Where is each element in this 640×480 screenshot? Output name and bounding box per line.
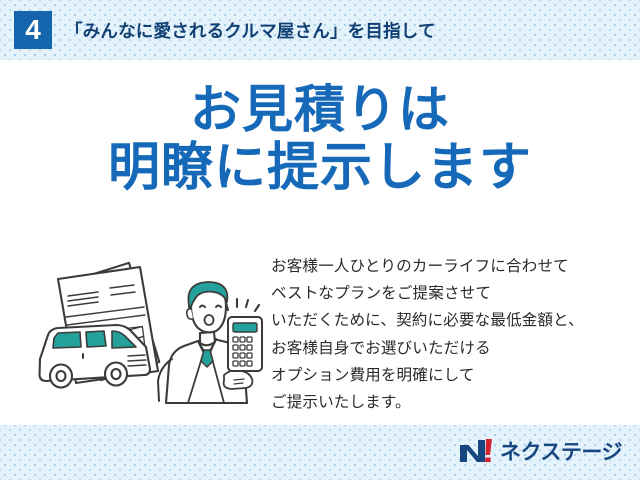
headline-line-2: 明瞭に提示します: [0, 139, 640, 197]
advertisement-canvas: 4 「みんなに愛されるクルマ屋さん」を目指して お見積りは 明瞭に提示します お…: [0, 0, 640, 480]
brand-logo: ネクステージ: [459, 436, 622, 466]
body-line: オプション費用を明確にして: [271, 362, 631, 389]
van-icon: [40, 325, 151, 388]
header-title: 「みんなに愛されるクルマ屋さん」を目指して: [65, 18, 436, 43]
footer-band: ネクステージ: [0, 425, 640, 480]
body-line: お客様一人ひとりのカーライフに合わせて: [271, 253, 631, 280]
body-line: お客様自身でお選びいただける: [271, 335, 631, 362]
illustration-salesman-estimate: [28, 255, 278, 420]
body-line: ベストなプランをご提案させて: [271, 280, 631, 307]
brand-name: ネクステージ: [500, 436, 622, 466]
n-logo-icon: [459, 438, 493, 464]
headline-line-1: お見積りは: [0, 82, 640, 139]
page-title: お見積りは 明瞭に提示します: [0, 82, 640, 197]
content-panel: お見積りは 明瞭に提示します お客様一人ひとりのカーライフに合わせて ベストなプ…: [0, 60, 640, 425]
calculator-icon: [228, 317, 262, 371]
body-copy: お客様一人ひとりのカーライフに合わせて ベストなプランをご提案させて いただくた…: [271, 253, 631, 416]
step-number-badge: 4: [14, 11, 52, 49]
sparkle-icon: [226, 299, 259, 311]
body-line: ご提示いたします。: [271, 389, 631, 416]
header-band: 4 「みんなに愛されるクルマ屋さん」を目指して: [0, 0, 640, 60]
body-line: いただくために、契約に必要な最低金額と、: [271, 307, 631, 334]
